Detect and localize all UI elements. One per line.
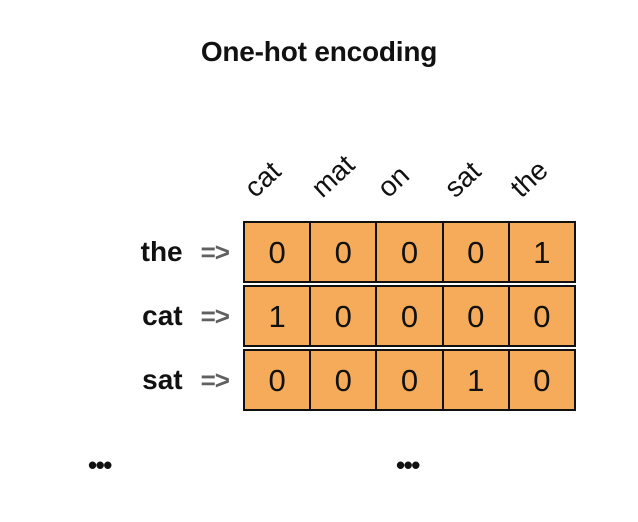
matrix-row-sat: 0 0 0 1 0 (243, 349, 576, 411)
matrix-row-the: 0 0 0 0 1 (243, 221, 576, 283)
row-label-sat: sat => (40, 349, 235, 411)
matrix-cell: 0 (509, 285, 576, 347)
row-word-label: sat (142, 364, 182, 396)
matrix-cell: 0 (509, 349, 576, 411)
continuation-ellipsis-matrix: ••• (396, 452, 419, 478)
maps-to-arrow-icon: => (201, 365, 229, 396)
column-header-label: cat (238, 155, 287, 204)
column-header-label: on (371, 159, 416, 204)
matrix-cell: 0 (243, 349, 310, 411)
matrix-cell: 0 (243, 221, 310, 283)
matrix-cell: 1 (243, 285, 310, 347)
continuation-ellipsis-labels: ••• (88, 452, 111, 478)
maps-to-arrow-icon: => (201, 237, 229, 268)
maps-to-arrow-icon: => (201, 301, 229, 332)
one-hot-matrix: 0 0 0 0 1 1 0 0 0 0 0 0 0 1 0 (243, 221, 576, 411)
row-label-cat: cat => (40, 285, 235, 347)
row-label-the: the => (40, 221, 235, 283)
row-word-label: cat (142, 300, 182, 332)
figure-title: One-hot encoding (0, 36, 638, 68)
matrix-cell: 1 (443, 349, 509, 411)
matrix-cell: 0 (376, 221, 442, 283)
matrix-cell: 0 (376, 349, 442, 411)
column-header-row: cat mat on sat the (243, 118, 576, 202)
column-header-label: sat (438, 155, 487, 204)
matrix-cell: 0 (310, 221, 376, 283)
matrix-cell: 1 (509, 221, 576, 283)
column-header-label: the (505, 154, 555, 204)
matrix-cell: 0 (310, 285, 376, 347)
row-word-label: the (141, 236, 183, 268)
matrix-cell: 0 (443, 285, 509, 347)
matrix-cell: 0 (310, 349, 376, 411)
matrix-cell: 0 (376, 285, 442, 347)
one-hot-encoding-figure: One-hot encoding cat mat on sat the the … (0, 0, 638, 522)
column-header-label: mat (305, 149, 361, 204)
matrix-row-cat: 1 0 0 0 0 (243, 285, 576, 347)
matrix-cell: 0 (443, 221, 509, 283)
